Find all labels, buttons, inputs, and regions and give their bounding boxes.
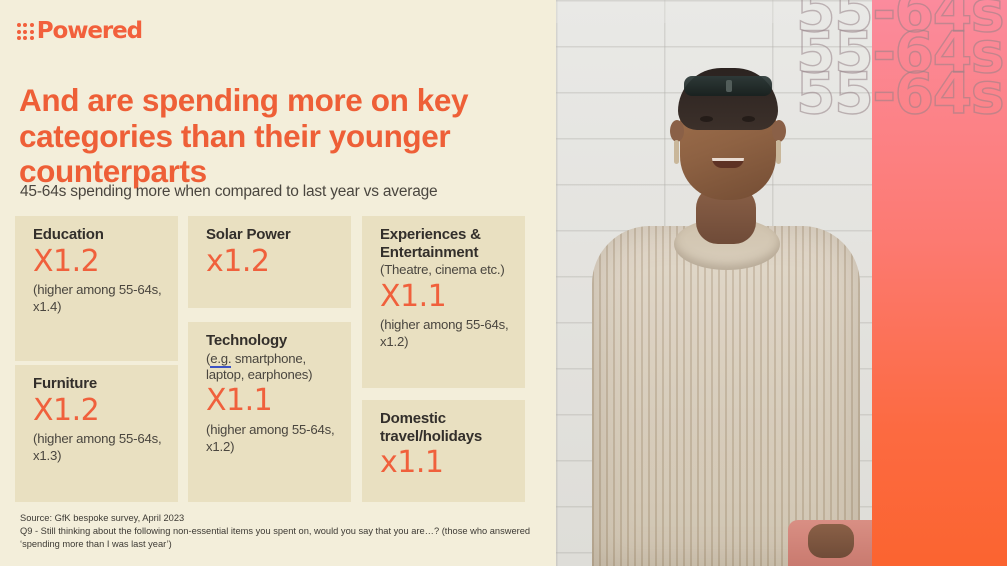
dot-grid-icon: [17, 23, 34, 40]
stat-card-title: Furniture: [33, 375, 164, 393]
stat-card-subtitle: (Theatre, cinema etc.): [380, 262, 511, 278]
stat-card-note: (higher among 55-64s, x1.2): [206, 422, 337, 455]
stat-card-value: X1.1: [206, 384, 337, 418]
stat-card-value: x1.1: [380, 446, 511, 480]
stat-card-title: Technology: [206, 332, 337, 350]
brand-logo-text: Powered: [37, 20, 142, 43]
page-title: And are spending more on key categories …: [19, 83, 539, 190]
ghost-text-55-64s-3: 55-64s: [796, 66, 1003, 123]
brand-logo: Powered: [17, 20, 142, 43]
sweater-rib-texture: [592, 226, 860, 566]
stat-card-experiences-entertainment: Experiences & Entertainment (Theatre, ci…: [362, 216, 525, 388]
slide-root: 55-64s 55-64s 55-64s Powered And are spe…: [0, 0, 1007, 566]
stat-card-title: Experiences & Entertainment: [380, 226, 511, 261]
spellcheck-marked-text[interactable]: e.g.: [210, 351, 231, 368]
stat-card-title: Solar Power: [206, 226, 337, 244]
content-panel: Powered And are spending more on key cat…: [0, 0, 556, 566]
stat-card-value: X1.2: [33, 245, 164, 279]
stat-card-title: Education: [33, 226, 164, 244]
stat-card-note: (higher among 55-64s, x1.3): [33, 431, 164, 464]
page-subtitle: 45-64s spending more when compared to la…: [20, 183, 540, 201]
stat-card-title: Domestic travel/holidays: [380, 410, 511, 445]
hand-shape: [808, 524, 854, 558]
earring-right: [776, 140, 781, 164]
stat-card-technology: Technology (e.g. smartphone, laptop, ear…: [188, 322, 351, 502]
earring-left: [674, 140, 679, 164]
footnote-source: Source: GfK bespoke survey, April 2023: [20, 512, 540, 525]
eye-right: [742, 116, 755, 122]
footnote-question: Q9 - Still thinking about the following …: [20, 525, 540, 551]
eye-left: [700, 116, 713, 122]
ear-left: [670, 120, 684, 142]
stat-card-value: X1.2: [33, 394, 164, 428]
stat-card-education: Education X1.2 (higher among 55-64s, x1.…: [15, 216, 178, 361]
mouth-smile: [712, 158, 744, 168]
stat-card-value: x1.2: [206, 245, 337, 279]
footnote: Source: GfK bespoke survey, April 2023 Q…: [20, 512, 540, 552]
sunglasses-on-head-icon: [684, 76, 772, 96]
ear-right: [772, 120, 786, 142]
stat-card-subtitle: (e.g. smartphone, laptop, earphones): [206, 351, 337, 384]
visual-panel: 55-64s 55-64s 55-64s: [556, 0, 1007, 566]
stat-card-note: (higher among 55-64s, x1.2): [380, 317, 511, 350]
stat-card-furniture: Furniture X1.2 (higher among 55-64s, x1.…: [15, 365, 178, 502]
stat-card-value: X1.1: [380, 280, 511, 314]
stat-card-solar-power: Solar Power x1.2: [188, 216, 351, 308]
stat-card-domestic-travel: Domestic travel/holidays x1.1: [362, 400, 525, 502]
stat-card-note: (higher among 55-64s, x1.4): [33, 282, 164, 315]
